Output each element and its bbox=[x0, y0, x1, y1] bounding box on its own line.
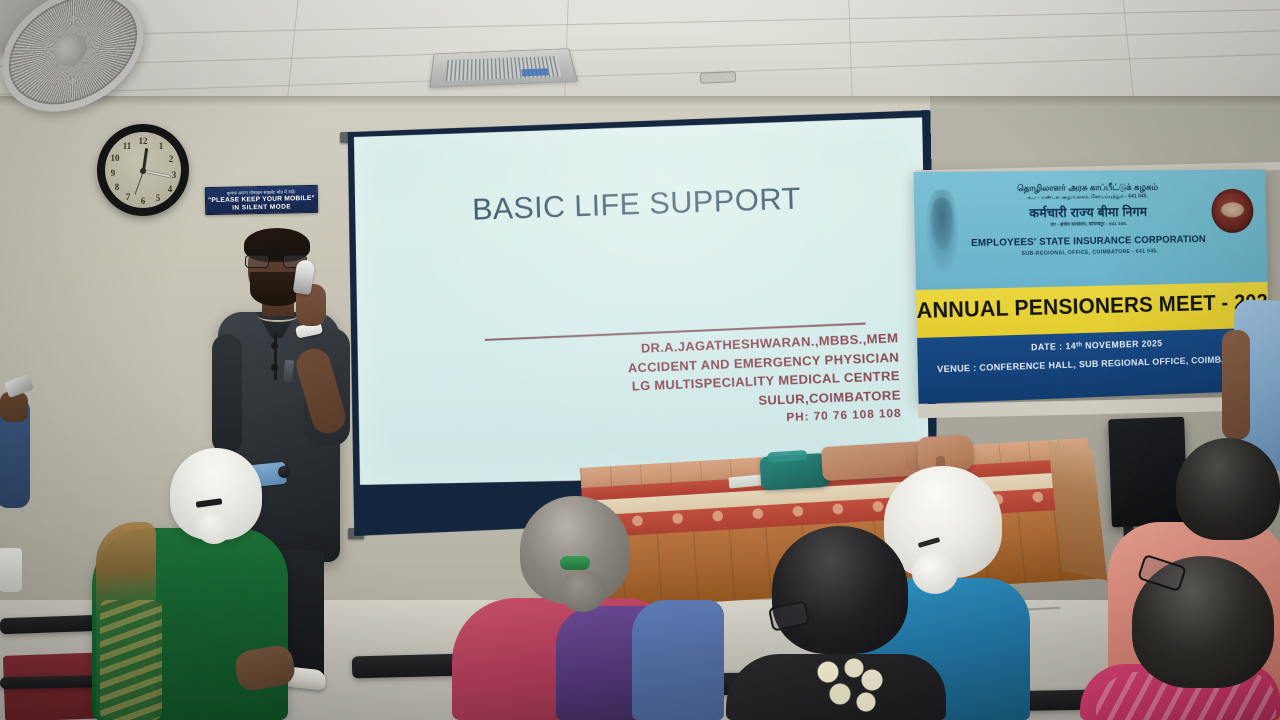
jasmine-flowers bbox=[812, 658, 886, 716]
clock-numeral: 9 bbox=[106, 167, 120, 179]
silent-mode-sign: कृपया अपना मोबाइल साइलेंट मोड में रखें। … bbox=[205, 185, 319, 215]
clock-numeral: 6 bbox=[136, 195, 150, 207]
attendee-body-blue bbox=[632, 600, 724, 720]
hair-band-icon bbox=[560, 556, 590, 570]
presenter-left-arm bbox=[212, 334, 242, 454]
national-emblem-icon bbox=[926, 190, 959, 272]
clock-numeral: 11 bbox=[120, 140, 134, 152]
glasses-lens-left bbox=[245, 255, 269, 268]
presenter-button bbox=[271, 342, 278, 349]
presenter-button bbox=[271, 364, 278, 371]
wall-ceiling-shadow bbox=[0, 96, 1280, 106]
silent-sign-line2: IN SILENT MODE bbox=[232, 203, 291, 212]
wall-fan-icon bbox=[0, 0, 172, 116]
attendee-saree-border bbox=[100, 600, 162, 720]
attendee-hair-bun bbox=[560, 570, 606, 612]
screen-surface: BASIC LIFE SUPPORT DR.A.JAGATHESHWARAN.,… bbox=[352, 117, 929, 485]
clock-numeral: 1 bbox=[154, 140, 168, 152]
ceiling bbox=[0, 0, 1280, 110]
attendee-hand-left bbox=[0, 392, 28, 422]
presenter-neck-chain bbox=[258, 310, 298, 322]
ac-vent-icon bbox=[429, 48, 578, 87]
glasses-bridge bbox=[269, 260, 283, 262]
ceiling-fixture bbox=[700, 71, 737, 84]
clock-numeral: 5 bbox=[151, 192, 165, 204]
fan-rim bbox=[0, 0, 156, 133]
photo-scene: 12 1 2 3 4 5 6 7 8 9 10 11 कृपया अपना मो… bbox=[0, 0, 1280, 720]
clock-numeral: 2 bbox=[164, 153, 178, 165]
standing-attendee-arm bbox=[1222, 330, 1250, 440]
clock-numeral: 4 bbox=[163, 183, 177, 195]
attendee-hair-black bbox=[772, 526, 908, 654]
attendee-hair-bun bbox=[912, 552, 958, 594]
slide-presenter-block: DR.A.JAGATHESHWARAN.,MBBS.,MEM ACCIDENT … bbox=[385, 329, 902, 443]
attendee-hair-dark bbox=[1176, 438, 1280, 540]
clock-center-pin bbox=[140, 168, 146, 174]
presenter-pocket-device bbox=[278, 466, 290, 478]
clock-numeral: 12 bbox=[136, 135, 150, 147]
clock-numeral: 10 bbox=[108, 152, 122, 164]
attendee-hair-bun bbox=[196, 510, 232, 544]
clock-face: 12 1 2 3 4 5 6 7 8 9 10 11 bbox=[105, 132, 181, 208]
esic-event-banner: தொழிலாளர் அரசு காப்பீட்டுக் கழகம் உப - ம… bbox=[913, 170, 1269, 404]
analog-wall-clock: 12 1 2 3 4 5 6 7 8 9 10 11 bbox=[97, 124, 189, 216]
clock-numeral: 8 bbox=[110, 181, 124, 193]
loudspeaker bbox=[1108, 417, 1188, 528]
water-bottle bbox=[0, 548, 22, 592]
fan-cage bbox=[0, 0, 156, 133]
slide-title: BASIC LIFE SUPPORT bbox=[353, 178, 924, 232]
clock-second-hand bbox=[134, 171, 143, 195]
presenter-placket bbox=[274, 332, 277, 380]
manikin-carry-bag bbox=[759, 453, 831, 491]
ac-vent-indicator bbox=[521, 68, 548, 76]
